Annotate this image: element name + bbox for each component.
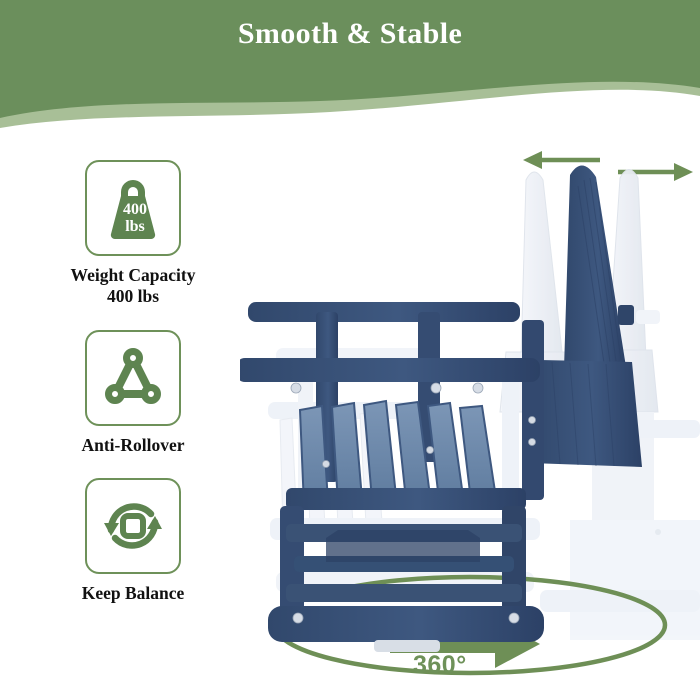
infographic-page: Smooth & Stable 400 lbs Weight Capacity … (0, 0, 700, 700)
weight-400lbs-icon (97, 172, 169, 244)
feature-weight-capacity: 400 lbs Weight Capacity 400 lbs (28, 160, 238, 308)
feature-label-keep-balance: Keep Balance (28, 583, 238, 604)
feature-label-anti-rollover: Anti-Rollover (28, 435, 238, 456)
rotation-360-label: 360° (413, 651, 467, 680)
chair-armrest (240, 358, 540, 393)
feature-anti-rollover: Anti-Rollover (28, 330, 238, 456)
chair-rear-post (522, 320, 544, 500)
triangle-anti-rollover-icon (97, 342, 169, 414)
icon-box-weight: 400 lbs (85, 160, 181, 256)
rotating-arrows-balance-icon (97, 490, 169, 562)
page-title: Smooth & Stable (0, 17, 700, 51)
feature-sublabel-weight: 400 lbs (28, 286, 238, 307)
glide-arrow-left-icon (523, 151, 600, 169)
chair-seat-front-edge (286, 488, 526, 510)
feature-label-weight: Weight Capacity (28, 265, 238, 286)
icon-box-anti-rollover (85, 330, 181, 426)
header-banner: Smooth & Stable (0, 0, 700, 130)
feature-list: 400 lbs Weight Capacity 400 lbs (28, 160, 238, 626)
feature-keep-balance: Keep Balance (28, 478, 238, 604)
chair-upper-arm-bar (248, 302, 520, 337)
product-image-glider-chair (240, 120, 700, 700)
icon-box-keep-balance (85, 478, 181, 574)
